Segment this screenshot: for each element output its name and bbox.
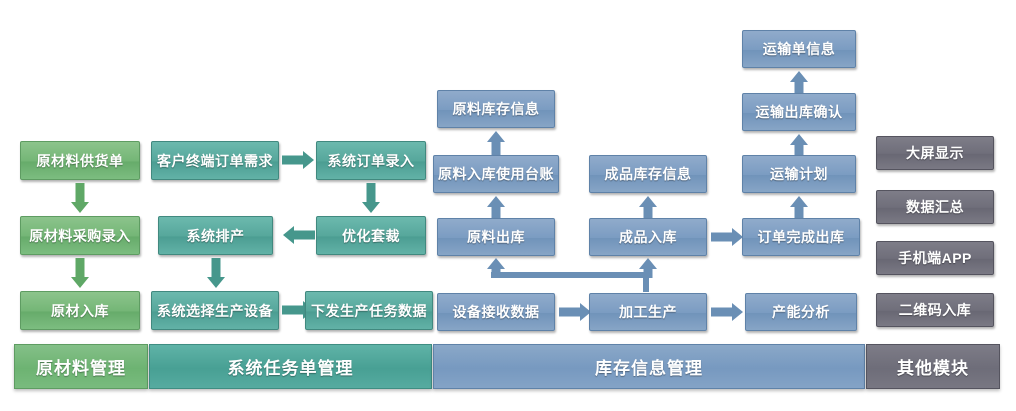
arrow-purchase-to-warehouse [71,258,89,288]
node-data-summary[interactable]: 数据汇总 [876,190,994,224]
arrow-scheduling-to-equipment-select [207,258,225,288]
arrow-demand-to-order-entry [282,151,314,169]
node-transport-order-info[interactable]: 运输单信息 [742,30,856,68]
arrow-order-entry-to-optimize [362,183,380,213]
legend-inventory-info-management[interactable]: 库存信息管理 [433,344,865,389]
node-mobile-app[interactable]: 手机端APP [876,241,994,275]
node-system-order-entry[interactable]: 系统订单录入 [316,141,426,180]
legend-system-task-order-management[interactable]: 系统任务单管理 [149,344,432,389]
connector-bus-horizontal [491,272,649,278]
arrow-bus-to-raw-outbound [487,258,505,278]
node-raw-material-outbound[interactable]: 原料出库 [437,218,555,256]
node-customer-terminal-order-demand[interactable]: 客户终端订单需求 [151,141,279,180]
arrow-supply-to-purchase [71,183,89,213]
arrow-equipment-data-to-processing [559,303,591,321]
arrow-transport-plan-to-confirm [790,134,808,155]
flowchart-canvas: 原材料供货单 原材料采购录入 原材入库 客户终端订单需求 系统订单录入 优化套裁… [0,0,1016,411]
node-system-production-scheduling[interactable]: 系统排产 [158,216,273,255]
node-raw-material-stock-info[interactable]: 原料库存信息 [437,90,555,128]
node-processing-production[interactable]: 加工生产 [589,293,707,331]
legend-raw-material-management[interactable]: 原材料管理 [14,344,148,389]
node-raw-material-purchase-entry[interactable]: 原材料采购录入 [20,216,140,255]
node-finished-goods-inbound[interactable]: 成品入库 [589,218,707,256]
arrow-optimize-to-scheduling [283,226,315,244]
arrow-finished-inbound-to-order-complete [711,228,743,246]
node-finished-goods-stock-info[interactable]: 成品库存信息 [589,155,707,193]
node-equipment-receive-data[interactable]: 设备接收数据 [437,293,555,331]
node-transport-plan[interactable]: 运输计划 [742,155,856,193]
node-large-screen-display[interactable]: 大屏显示 [876,136,994,170]
node-raw-material-inbound-usage-ledger[interactable]: 原料入库使用台账 [433,155,559,193]
node-transport-outbound-confirmation[interactable]: 运输出库确认 [742,93,856,131]
arrow-bus-to-finished-inbound [639,258,657,278]
node-qr-code-inbound[interactable]: 二维码入库 [876,293,994,327]
node-system-select-production-equipment[interactable]: 系统选择生产设备 [151,291,279,330]
node-order-completion-outbound[interactable]: 订单完成出库 [742,218,860,256]
node-raw-material-inbound[interactable]: 原材入库 [20,291,140,330]
node-raw-material-supply-order[interactable]: 原材料供货单 [20,141,140,180]
node-capacity-analysis[interactable]: 产能分析 [745,293,857,331]
node-optimized-nesting[interactable]: 优化套裁 [316,216,426,255]
arrow-processing-to-capacity-analysis [711,303,743,321]
arrow-ledger-to-stock-info [487,131,505,157]
legend-other-modules[interactable]: 其他模块 [866,344,1000,389]
node-dispatch-production-task-data[interactable]: 下发生产任务数据 [305,291,433,330]
